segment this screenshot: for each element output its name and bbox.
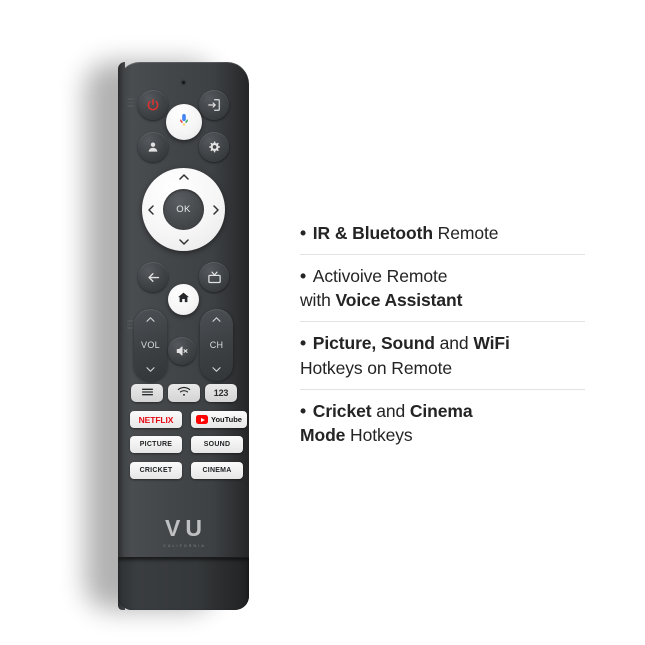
feature-text: • Picture, Sound and WiFiHotkeys on Remo… — [300, 331, 600, 379]
picture-hotkey-label: PICTURE — [140, 441, 172, 448]
feature-text-run: Hotkeys — [345, 425, 412, 445]
feature-text-run: Picture, Sound — [313, 333, 435, 353]
wifi-icon — [177, 384, 191, 402]
mute-button[interactable] — [168, 337, 196, 365]
cricket-hotkey-label: CRICKET — [140, 467, 173, 474]
side-texture-top — [127, 98, 134, 107]
home-button[interactable] — [168, 284, 199, 315]
ir-emitter-led — [182, 81, 185, 84]
feature-text-run: Hotkeys on Remote — [300, 358, 452, 378]
dpad-right-button[interactable] — [212, 204, 220, 216]
menu-button[interactable] — [131, 384, 163, 402]
power-button[interactable] — [138, 90, 168, 120]
input-source-button[interactable] — [199, 90, 229, 120]
feature-item: • Activoive Remotewith Voice Assistant — [300, 255, 600, 321]
cinema-hotkey-button[interactable]: CINEMA — [191, 462, 243, 479]
netflix-button[interactable]: NETFLIX — [130, 411, 182, 428]
gear-icon — [207, 140, 221, 154]
voice-assistant-mic-button[interactable] — [166, 104, 202, 140]
cinema-hotkey-label: CINEMA — [202, 467, 231, 474]
feature-text-run: WiFi — [473, 333, 509, 353]
feature-bullet: • — [300, 223, 311, 243]
microphone-icon — [176, 112, 192, 133]
youtube-play-icon — [196, 415, 208, 424]
feature-text: • IR & Bluetooth Remote — [300, 221, 600, 245]
youtube-button[interactable]: YouTube — [191, 411, 247, 428]
ok-button-label: OK — [176, 204, 191, 215]
channel-label: CH — [210, 340, 224, 350]
dpad-up-button[interactable] — [178, 173, 190, 181]
battery-cover — [118, 557, 249, 610]
home-icon — [177, 291, 190, 309]
power-icon — [146, 98, 160, 112]
back-arrow-icon — [146, 270, 161, 285]
channel-down-button[interactable] — [211, 365, 222, 375]
wifi-button[interactable] — [168, 384, 200, 402]
feature-text-run: and — [435, 333, 473, 353]
feature-item: • IR & Bluetooth Remote — [300, 212, 600, 254]
volume-rocker[interactable]: VOL — [134, 309, 167, 381]
feature-text-run: Mode — [300, 425, 345, 445]
input-source-icon — [207, 98, 221, 112]
vu-logo-subtext: CALIFORNIA — [161, 544, 206, 548]
feature-text-run: with — [300, 290, 335, 310]
back-button[interactable] — [138, 262, 168, 292]
dpad-navigation-ring[interactable]: OK — [142, 168, 225, 251]
keypad-label: 123 — [214, 388, 228, 398]
feature-text: • Cricket and CinemaMode Hotkeys — [300, 399, 600, 447]
sound-hotkey-button[interactable]: SOUND — [191, 436, 243, 453]
feature-text-run: Activoive Remote — [313, 266, 448, 286]
feature-list: • IR & Bluetooth Remote• Activoive Remot… — [300, 212, 600, 456]
feature-item: • Cricket and CinemaMode Hotkeys — [300, 390, 600, 456]
feature-bullet: • — [300, 266, 311, 286]
profile-button[interactable] — [138, 132, 168, 162]
vu-logo: VU — [160, 517, 207, 540]
feature-item: • Picture, Sound and WiFiHotkeys on Remo… — [300, 322, 600, 388]
feature-text: • Activoive Remotewith Voice Assistant — [300, 264, 600, 312]
dpad-left-button[interactable] — [147, 204, 155, 216]
feature-bullet: • — [300, 333, 311, 353]
mute-icon — [175, 344, 189, 358]
live-tv-button[interactable] — [199, 262, 229, 292]
keypad-button[interactable]: 123 — [205, 384, 237, 402]
sound-hotkey-label: SOUND — [204, 441, 231, 448]
volume-down-button[interactable] — [145, 365, 156, 375]
dpad-down-button[interactable] — [178, 238, 190, 246]
feature-text-run: Remote — [433, 223, 498, 243]
ok-button[interactable]: OK — [163, 189, 204, 230]
channel-rocker[interactable]: CH — [200, 309, 233, 381]
youtube-label: YouTube — [211, 415, 242, 424]
live-tv-icon — [207, 270, 222, 285]
brand-logo-group: VU CALIFORNIA — [118, 517, 249, 548]
channel-up-button[interactable] — [211, 315, 222, 325]
feature-text-run: Voice Assistant — [335, 290, 462, 310]
feature-text-run: Cricket — [313, 401, 372, 421]
feature-text-run: IR & Bluetooth — [313, 223, 433, 243]
settings-button[interactable] — [199, 132, 229, 162]
volume-label: VOL — [141, 340, 160, 350]
side-texture-middle — [127, 320, 134, 329]
feature-text-run: Cinema — [410, 401, 473, 421]
volume-up-button[interactable] — [145, 315, 156, 325]
picture-hotkey-button[interactable]: PICTURE — [130, 436, 182, 453]
tv-remote-control: OK — [118, 62, 249, 610]
feature-bullet: • — [300, 401, 311, 421]
feature-text-run: and — [371, 401, 409, 421]
hamburger-menu-icon — [141, 384, 154, 402]
netflix-label: NETFLIX — [139, 415, 174, 425]
cricket-hotkey-button[interactable]: CRICKET — [130, 462, 182, 479]
profile-icon — [146, 140, 160, 154]
